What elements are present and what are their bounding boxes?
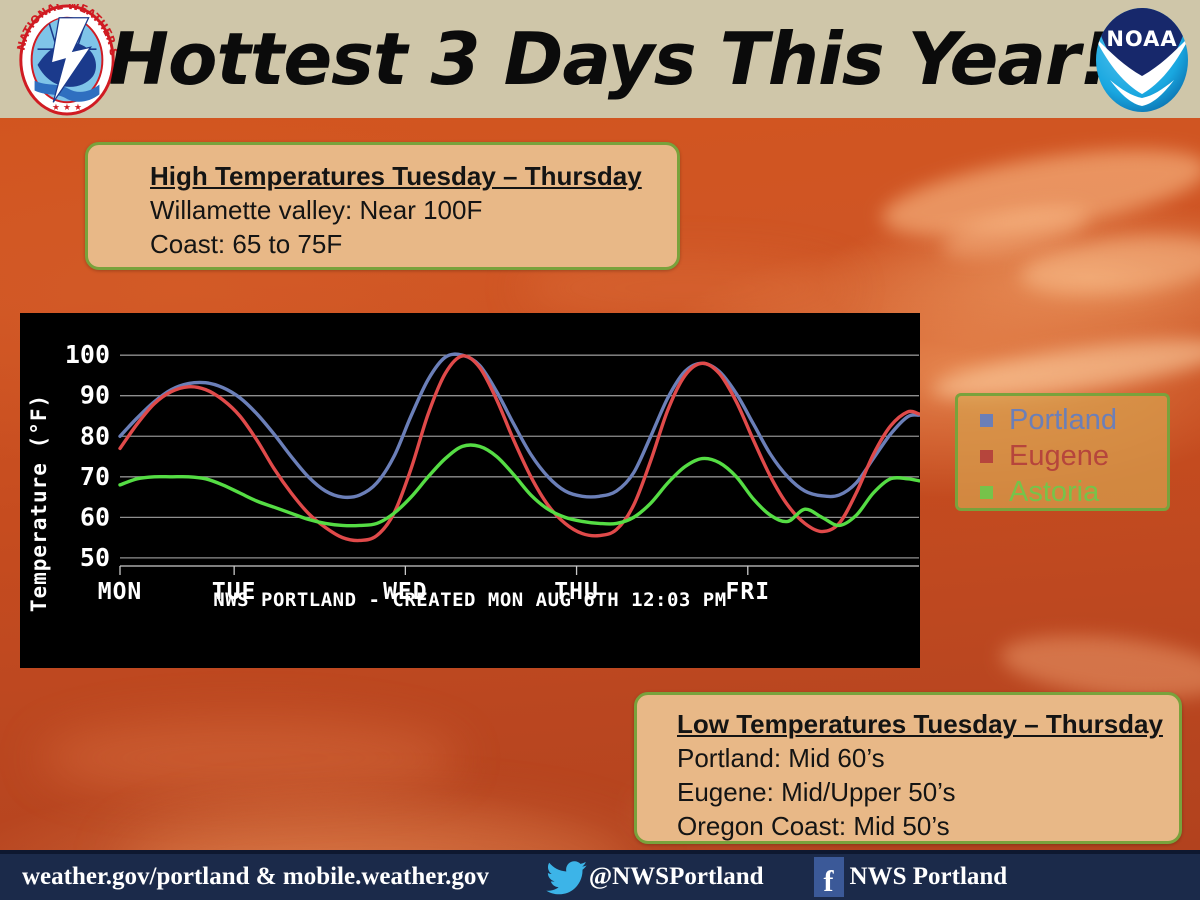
svg-text:70: 70: [80, 462, 110, 491]
svg-text:★ ★ ★: ★ ★ ★: [52, 103, 82, 113]
svg-text:100: 100: [65, 340, 110, 369]
footer-website-link[interactable]: weather.gov/portland & mobile.weather.go…: [22, 863, 489, 891]
cloud-shape: [40, 718, 460, 798]
svg-text:90: 90: [80, 381, 110, 410]
low-temperatures-callout: Low Temperatures Tuesday – Thursday Port…: [634, 692, 1182, 844]
high-callout-line-1: Willamette valley: Near 100F: [150, 193, 677, 227]
legend-label: Eugene: [1009, 442, 1109, 471]
svg-text:50: 50: [80, 543, 110, 572]
svg-text:60: 60: [80, 502, 110, 531]
chart-legend: PortlandEugeneAstoria: [955, 393, 1170, 511]
footer-twitter-group[interactable]: @NWSPortland: [545, 859, 764, 895]
legend-item-eugene[interactable]: Eugene: [980, 438, 1167, 474]
low-callout-title: Low Temperatures Tuesday – Thursday: [677, 707, 1179, 741]
temperature-forecast-chart: 5060708090100 MONTUEWEDTHUFRI Temperatur…: [20, 313, 920, 668]
legend-item-portland[interactable]: Portland: [980, 402, 1167, 438]
footer-facebook-group[interactable]: f NWS Portland: [814, 857, 1008, 897]
svg-text:MON: MON: [98, 579, 143, 605]
page-title: Hottest 3 Days This Year!: [140, 0, 1080, 118]
chart-canvas: 5060708090100 MONTUEWEDTHUFRI Temperatur…: [20, 313, 920, 668]
chart-y-axis-label: Temperature (°F): [27, 394, 51, 612]
svg-text:80: 80: [80, 421, 110, 450]
low-callout-line-2: Eugene: Mid/Upper 50’s: [677, 775, 1179, 809]
svg-text:FRI: FRI: [726, 579, 771, 605]
legend-swatch-icon: [980, 486, 993, 499]
legend-label: Astoria: [1009, 478, 1099, 507]
legend-swatch-icon: [980, 450, 993, 463]
facebook-page-name: NWS Portland: [850, 863, 1008, 891]
svg-text:NOAA: NOAA: [1106, 27, 1177, 51]
legend-swatch-icon: [980, 414, 993, 427]
cloud-shape: [120, 808, 640, 854]
high-callout-title: High Temperatures Tuesday – Thursday: [150, 159, 677, 193]
weather-graphic-page: ★ ★ ★ NATIONAL WEATHER SERVICE Hottest 3…: [0, 0, 1200, 900]
header-bar: ★ ★ ★ NATIONAL WEATHER SERVICE Hottest 3…: [0, 0, 1200, 118]
legend-label: Portland: [1009, 406, 1117, 435]
noaa-logo: NOAA: [1090, 6, 1194, 114]
footer-bar: weather.gov/portland & mobile.weather.go…: [0, 854, 1200, 900]
low-callout-line-1: Portland: Mid 60’s: [677, 741, 1179, 775]
low-callout-line-3: Oregon Coast: Mid 50’s: [677, 809, 1179, 843]
high-callout-line-2: Coast: 65 to 75F: [150, 227, 677, 261]
chart-caption: NWS PORTLAND - CREATED MON AUG 6TH 12:03…: [213, 589, 726, 611]
facebook-f-icon: f: [814, 857, 844, 897]
twitter-bird-icon: [545, 859, 589, 895]
chart-background: [20, 313, 920, 668]
twitter-handle: @NWSPortland: [589, 863, 764, 891]
high-temperatures-callout: High Temperatures Tuesday – Thursday Wil…: [85, 142, 680, 270]
legend-item-astoria[interactable]: Astoria: [980, 474, 1167, 510]
